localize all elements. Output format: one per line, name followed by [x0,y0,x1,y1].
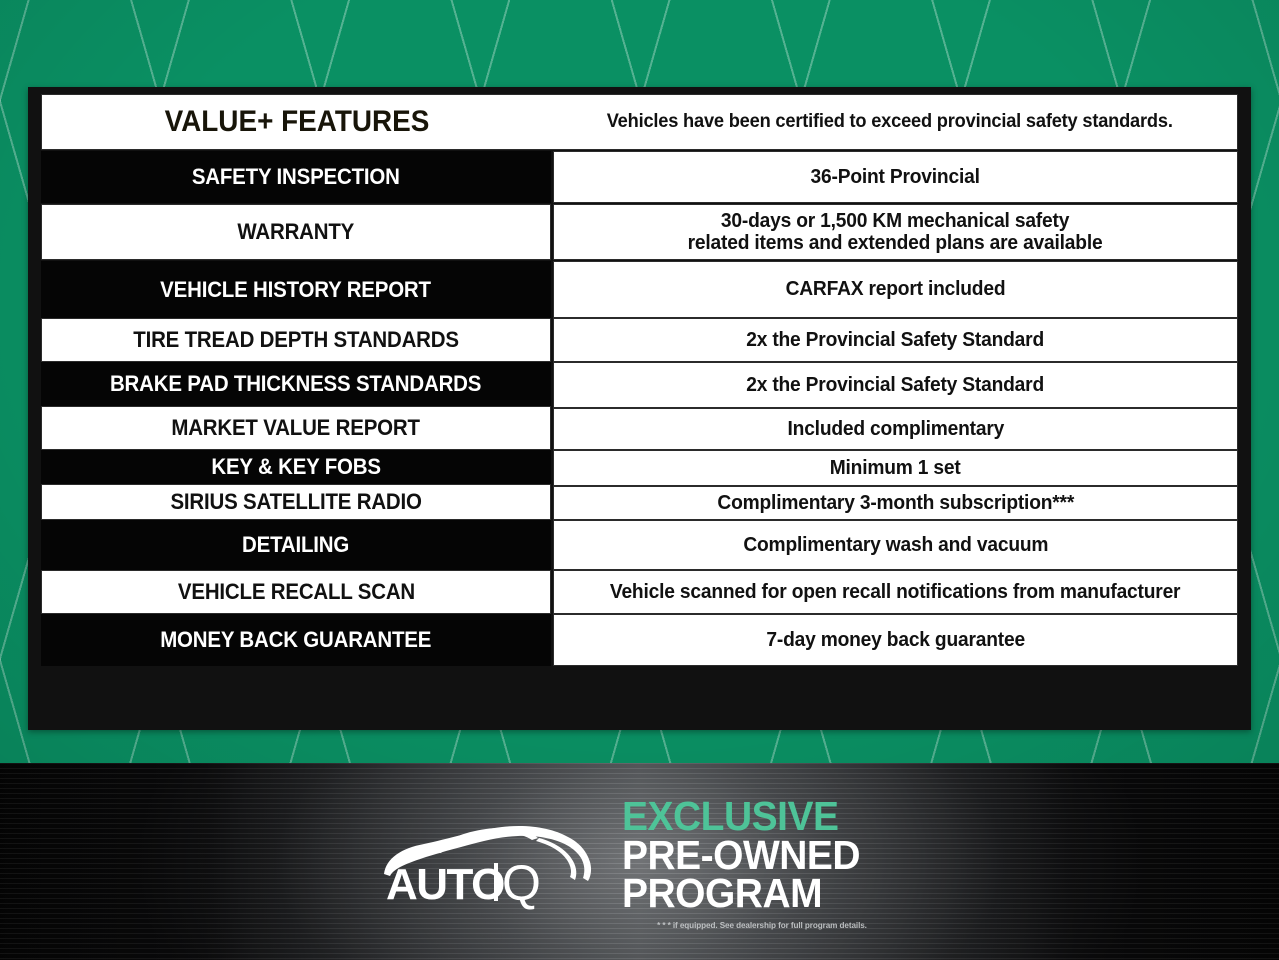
value-plus-features-page: VALUE+ FEATURES Vehicles have been certi… [0,0,1279,960]
feature-label: VEHICLE HISTORY REPORT [161,278,432,301]
page-title: VALUE+ FEATURES [60,105,534,139]
feature-label: SIRIUS SATELLITE RADIO [170,490,421,513]
feature-value-cell: Complimentary wash and vacuum [553,520,1238,570]
feature-name-cell: KEY & KEY FOBS [41,450,551,484]
feature-label: DETAILING [242,533,349,556]
features-table-card: VALUE+ FEATURES Vehicles have been certi… [28,87,1251,730]
feature-label: KEY & KEY FOBS [211,455,380,478]
feature-name-cell: SAFETY INSPECTION [41,151,551,203]
feature-name-cell: MONEY BACK GUARANTEE [41,614,551,666]
feature-name-cell: BRAKE PAD THICKNESS STANDARDS [41,362,551,406]
headline-line-preowned: PRE-OWNED [622,836,888,875]
feature-label: TIRE TREAD DEPTH STANDARDS [133,328,459,351]
feature-value-cell: 36-Point Provincial [553,151,1238,203]
feature-value-cell: 2x the Provincial Safety Standard [553,362,1238,408]
feature-name-cell: VEHICLE RECALL SCAN [41,570,551,614]
feature-label: MARKET VALUE REPORT [172,416,420,439]
feature-value: Complimentary 3-month subscription*** [709,490,1081,516]
features-table: VALUE+ FEATURES Vehicles have been certi… [41,94,1238,723]
feature-value-cell: CARFAX report included [553,261,1238,318]
feature-value-cell: 2x the Provincial Safety Standard [553,318,1238,362]
footer-banner: AUTO Q EXCLUSIVE PRE-OWNED PROGRAM * * *… [0,763,1279,960]
svg-text:Q: Q [502,855,541,911]
feature-value: 7-day money back guarantee [759,627,1033,653]
feature-name-cell: DETAILING [41,520,551,570]
feature-name-cell: TIRE TREAD DEPTH STANDARDS [41,318,551,362]
feature-value: Included complimentary [780,416,1012,442]
feature-value-cell: Included complimentary [553,408,1238,450]
feature-value: 30-days or 1,500 KM mechanical safetyrel… [680,208,1110,257]
feature-name-cell: VEHICLE HISTORY REPORT [41,261,551,318]
feature-value-cell: Complimentary 3-month subscription*** [553,486,1238,520]
footer-disclaimer: * * * if equipped. See dealership for fu… [627,920,896,930]
feature-label: VEHICLE RECALL SCAN [177,580,414,603]
feature-name-cell: WARRANTY [41,204,551,260]
table-header-subtitle: Vehicles have been certified to exceed p… [566,111,1224,133]
feature-label: WARRANTY [238,220,355,243]
headline-line-exclusive: EXCLUSIVE [622,797,888,836]
svg-text:AUTO: AUTO [386,860,504,909]
autoiq-car-silhouette-icon: AUTO Q [378,812,600,912]
program-headline-block: EXCLUSIVE PRE-OWNED PROGRAM * * * if equ… [622,793,902,931]
feature-label: MONEY BACK GUARANTEE [160,628,431,651]
feature-value: 2x the Provincial Safety Standard [739,372,1052,398]
feature-value: Vehicle scanned for open recall notifica… [603,579,1189,605]
feature-value: Minimum 1 set [822,455,968,481]
feature-value: CARFAX report included [778,276,1013,302]
feature-label: SAFETY INSPECTION [192,165,400,188]
feature-name-cell: MARKET VALUE REPORT [41,406,551,450]
feature-label: BRAKE PAD THICKNESS STANDARDS [110,372,481,395]
headline-line-program: PROGRAM [622,874,888,913]
feature-value: 2x the Provincial Safety Standard [739,327,1052,353]
feature-value: 36-Point Provincial [803,164,988,190]
autoiq-logo: AUTO Q [378,812,600,912]
feature-name-cell: SIRIUS SATELLITE RADIO [41,484,551,520]
feature-value-cell: 30-days or 1,500 KM mechanical safetyrel… [553,204,1238,260]
feature-value-cell: 7-day money back guarantee [553,614,1238,666]
table-header-row: VALUE+ FEATURES Vehicles have been certi… [41,94,1238,150]
feature-value-cell: Minimum 1 set [553,450,1238,486]
feature-value: Complimentary wash and vacuum [735,532,1055,558]
feature-value-cell: Vehicle scanned for open recall notifica… [553,570,1238,614]
